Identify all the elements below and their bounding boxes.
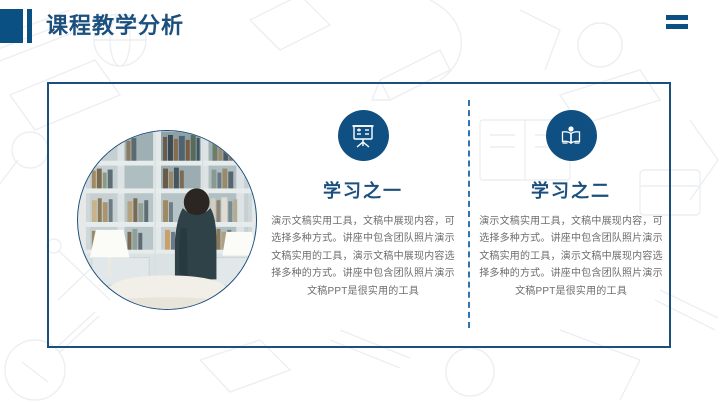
library-bookshelf-photo <box>77 130 257 310</box>
header-block-icon <box>0 9 23 43</box>
presentation-board-icon[interactable] <box>338 110 389 161</box>
feature-body-2: 演示文稿实用工具，文稿中展现内容，可选择多种方式。讲座中包含团队照片演示文稿实用… <box>473 213 669 301</box>
equals-menu-icon[interactable] <box>666 15 688 33</box>
feature-column-1: 学习之一 演示文稿实用工具，文稿中展现内容，可选择多种方式。讲座中包含团队照片演… <box>265 110 461 300</box>
feature-column-2: 学习之二 演示文稿实用工具，文稿中展现内容，可选择多种方式。讲座中包含团队照片演… <box>473 110 669 300</box>
header-bar-icon <box>27 9 32 43</box>
equals-bar-top <box>666 15 688 20</box>
page-header: 课程教学分析 <box>0 9 184 43</box>
slide-canvas: 课程教学分析 <box>0 0 720 405</box>
page-title: 课程教学分析 <box>46 9 184 43</box>
equals-bar-bottom <box>666 24 688 29</box>
feature-title-2: 学习之二 <box>473 181 669 203</box>
feature-title-1: 学习之一 <box>265 181 461 203</box>
vertical-dashed-divider <box>468 100 470 328</box>
feature-body-1: 演示文稿实用工具，文稿中展现内容，可选择多种方式。讲座中包含团队照片演示文稿实用… <box>265 213 461 301</box>
open-book-reader-icon[interactable] <box>546 110 597 161</box>
